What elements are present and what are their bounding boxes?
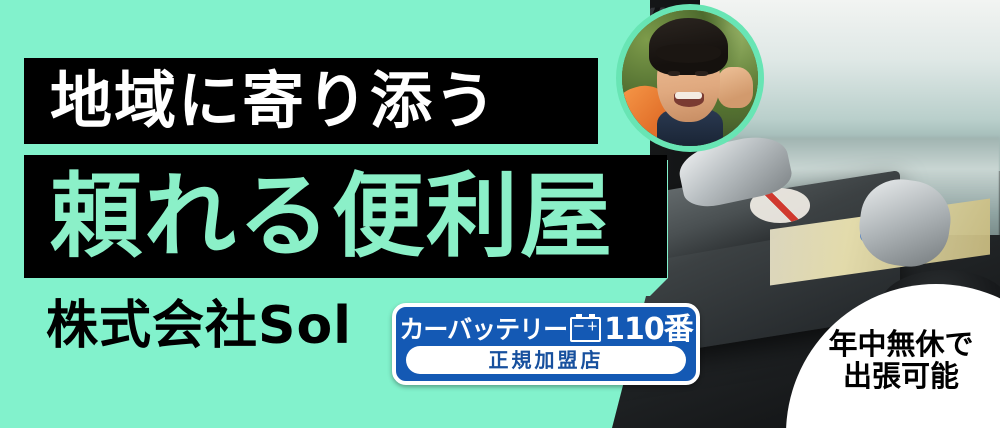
callout-line-1: 年中無休で xyxy=(806,328,996,360)
badge-headline-row: カーバッテリー ー ＋ 110番 xyxy=(406,313,686,346)
headline-band-primary: 地域に寄り添う xyxy=(24,58,598,144)
promo-banner: 地域に寄り添う 頼れる便利屋 株式会社Sol カーバッテリー ー ＋ 110番 … xyxy=(0,0,1000,428)
car-battery-110-badge[interactable]: カーバッテリー ー ＋ 110番 正規加盟店 xyxy=(392,303,700,385)
portrait-eye-right xyxy=(695,71,707,76)
badge-status-text: 正規加盟店 xyxy=(489,350,604,370)
headline-line-1: 地域に寄り添う xyxy=(24,70,498,132)
battery-minus-sign: ー xyxy=(573,322,584,333)
portrait-eye-left xyxy=(668,71,680,76)
callout-line-2: 出張可能 xyxy=(806,360,996,392)
staff-portrait-avatar xyxy=(616,4,764,152)
portrait-raised-fist xyxy=(717,67,752,108)
headline-line-2: 頼れる便利屋 xyxy=(24,171,614,263)
car-battery-icon: ー ＋ xyxy=(570,317,601,342)
portrait-teeth xyxy=(675,92,702,99)
portrait-fringe xyxy=(656,44,721,63)
headline-band-secondary: 頼れる便利屋 xyxy=(24,155,667,278)
badge-number: 110番 xyxy=(604,315,693,345)
callout-text: 年中無休で 出張可能 xyxy=(806,328,996,393)
badge-status-pill: 正規加盟店 xyxy=(406,346,686,374)
company-name: 株式会社Sol xyxy=(46,300,352,352)
badge-brand-word: カーバッテリー xyxy=(399,317,567,342)
battery-plus-sign: ＋ xyxy=(587,322,598,333)
